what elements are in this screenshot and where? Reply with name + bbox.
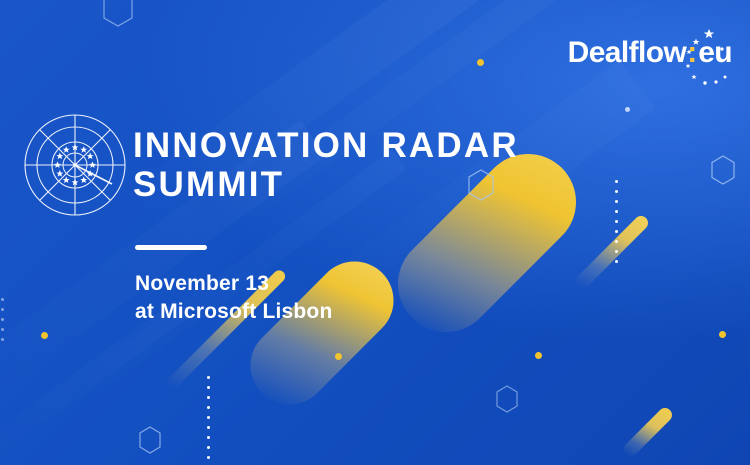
radar-sweep-needle — [75, 165, 112, 184]
hexagon-top-left-icon — [101, 0, 135, 28]
dot-yellow-left — [41, 332, 48, 339]
date-and-venue: November 13 at Microsoft Lisbon — [135, 270, 553, 325]
eu-stars-decoration — [634, 22, 730, 100]
dot-yellow-mid — [535, 352, 542, 359]
page-title: INNOVATION RADAR SUMMIT — [133, 126, 553, 204]
headline-block: INNOVATION RADAR SUMMIT November 13 at M… — [133, 126, 553, 326]
event-banner: INNOVATION RADAR SUMMIT November 13 at M… — [0, 0, 750, 465]
dotted-line-edge — [1, 298, 4, 348]
dot-yellow-center — [335, 353, 342, 360]
hexagon-right-icon — [709, 154, 737, 186]
hexagon-bottom-center-icon — [494, 384, 520, 414]
dealflow-logo[interactable]: Dealflow : eu — [568, 36, 732, 70]
capsule-small-right — [573, 213, 651, 291]
capsule-small-bottom — [621, 405, 675, 459]
innovation-radar-logo — [22, 112, 128, 218]
dot-white-upper — [625, 107, 630, 112]
title-divider — [135, 245, 207, 250]
hexagon-bottom-left-icon — [137, 425, 163, 455]
dotted-line-left — [207, 376, 210, 465]
dot-yellow-right — [719, 331, 726, 338]
dot-yellow-top — [477, 59, 484, 66]
dotted-line-right — [615, 180, 618, 270]
